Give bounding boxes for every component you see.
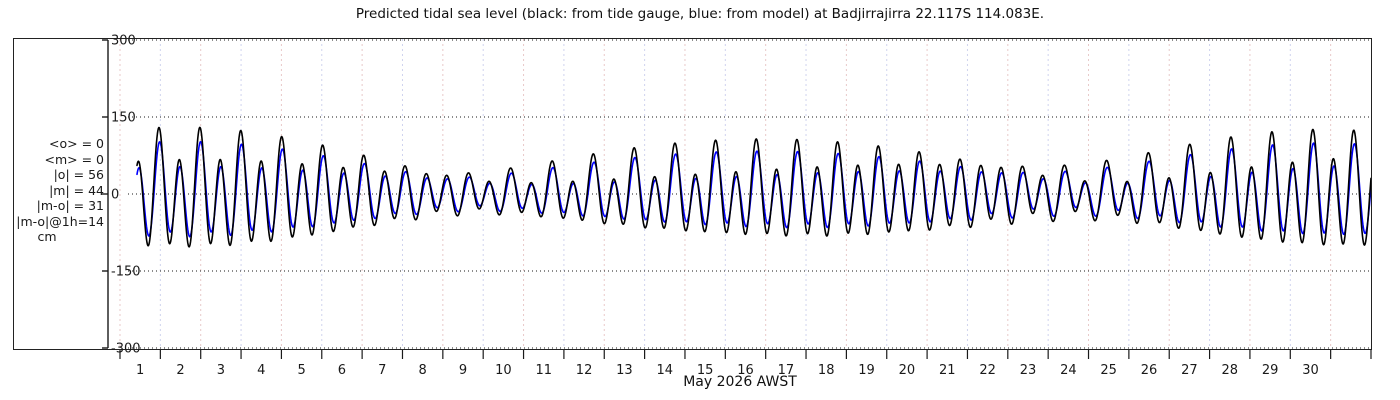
- credit-container: © IMOS 26-Oct-2025 06:21:43. *Not for na…: [1376, 0, 1400, 400]
- svg-text:150: 150: [111, 111, 136, 126]
- y-axis: 3001500-150-300: [102, 34, 141, 357]
- data-series: [137, 127, 1371, 246]
- svg-text:0: 0: [111, 188, 119, 203]
- svg-text:-150: -150: [111, 265, 141, 280]
- svg-text:-300: -300: [111, 342, 141, 357]
- vertical-gridlines: [120, 39, 1331, 349]
- tidal-plot: 3001500-150-300 123456789101112131415161…: [0, 0, 1400, 400]
- x-axis-title: May 2026 AWST: [108, 374, 1372, 390]
- svg-text:300: 300: [111, 34, 136, 49]
